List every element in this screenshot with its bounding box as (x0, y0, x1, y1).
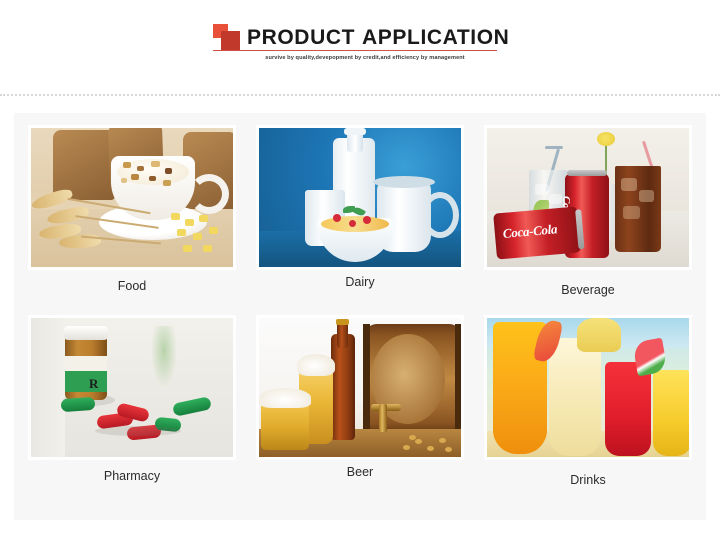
card-drinks-photo-frame (484, 315, 692, 460)
beer-scene (259, 318, 461, 457)
cola-cans-glasses-photo: Coca-Cola Coca-Cola (487, 128, 689, 267)
cup-handle-icon (189, 174, 229, 214)
tagline: survive by quality,devepopment by credit… (233, 55, 497, 61)
beer-foam (297, 354, 335, 376)
green-capsule-icon (172, 396, 212, 417)
beer-mug-barrel-photo (259, 318, 461, 457)
wheat-stem (75, 215, 158, 229)
content-panel: Food (14, 113, 706, 520)
slide-header: PRODUCTAPPLICATION survive by quality,de… (0, 0, 720, 88)
rx-symbol: R (89, 376, 98, 392)
straw-bend-icon (545, 146, 563, 149)
grain (415, 439, 422, 444)
card-drinks-label: Drinks (484, 473, 692, 488)
coca-cola-wordmark: Coca-Cola (502, 221, 558, 242)
card-food-photo-frame (28, 125, 236, 270)
bottle-cap-icon (64, 326, 108, 340)
header-divider (0, 94, 720, 96)
card-food[interactable]: Food (28, 125, 236, 294)
capsule-shadow (95, 426, 181, 436)
card-dairy-label: Dairy (256, 275, 464, 290)
two-red-squares-logo-icon (213, 23, 247, 51)
berry-icon (349, 220, 356, 227)
cereal-flake (163, 180, 171, 186)
cereal-flake (123, 162, 131, 168)
beverage-scene: Coca-Cola Coca-Cola (487, 128, 689, 267)
pasta-piece (171, 213, 180, 220)
green-capsule-icon (61, 397, 96, 412)
title-primary: PRODUCT (247, 26, 355, 49)
pasta-piece (209, 227, 218, 234)
yellow-juice-glass-icon (653, 370, 689, 456)
bottle-neck (337, 322, 348, 348)
can-top (567, 170, 607, 176)
red-juice-glass-icon (605, 362, 651, 456)
bottle-cap (344, 128, 366, 135)
logo-square-front-icon (221, 31, 240, 50)
card-dairy-photo-frame (256, 125, 464, 270)
grain-pile-icon (401, 433, 457, 455)
title-underline (213, 50, 497, 51)
beer-bottle-icon (331, 334, 355, 440)
grain (439, 438, 446, 443)
card-pharmacy[interactable]: R Pharmacy (28, 315, 236, 484)
ice-cube (623, 206, 640, 219)
cereal-flake (165, 168, 172, 174)
bottle-label (65, 356, 107, 392)
barrel-band (455, 324, 461, 434)
ice-cube (639, 190, 654, 202)
card-beer-label: Beer (256, 465, 464, 480)
jug-rim (373, 176, 435, 188)
product-application-grid: Food (14, 113, 706, 520)
pasta-piece (199, 215, 208, 222)
pineapple-slice-icon (577, 318, 621, 352)
pasta-piece (183, 245, 192, 252)
card-food-label: Food (28, 279, 236, 294)
grain (403, 445, 410, 450)
card-pharmacy-photo-frame: R (28, 315, 236, 460)
pina-colada-glass-icon (549, 338, 601, 456)
barrel-tap-icon (379, 404, 387, 432)
title-row: PRODUCTAPPLICATION (213, 22, 503, 52)
pasta-pile-icon (167, 211, 231, 263)
coca-cola-can-lying-icon: Coca-Cola (493, 206, 581, 259)
pasta-piece (177, 229, 186, 236)
title-secondary: APPLICATION (362, 26, 509, 49)
card-beverage-photo-frame: Coca-Cola Coca-Cola (484, 125, 692, 270)
pasta-piece (185, 219, 194, 226)
cereal-bowl-wheat-photo (31, 128, 233, 267)
flower-icon (597, 132, 615, 146)
card-dairy[interactable]: Dairy (256, 125, 464, 290)
pasta-piece (193, 233, 202, 240)
berry-icon (363, 216, 371, 224)
card-drinks[interactable]: Drinks (484, 315, 692, 488)
card-beverage-label: Beverage (484, 283, 692, 298)
card-beer-photo-frame (256, 315, 464, 460)
page-title: PRODUCTAPPLICATION (247, 27, 509, 48)
grain (427, 446, 434, 451)
card-pharmacy-label: Pharmacy (28, 469, 236, 484)
tropical-juice-glasses-photo (487, 318, 689, 457)
grain (445, 447, 452, 452)
food-scene (31, 128, 233, 267)
milk-bottle-jug-photo (259, 128, 461, 267)
dairy-scene (259, 128, 461, 267)
beer-foam (259, 388, 311, 408)
pasta-piece (203, 245, 212, 252)
ice-cube (621, 178, 637, 191)
pharmacy-scene: R (31, 318, 233, 457)
pill-bottle-capsules-photo: R (31, 318, 233, 457)
background-blur (31, 318, 65, 457)
wheat-bundle-icon (31, 179, 155, 265)
cereal-flake (151, 161, 160, 167)
card-beer[interactable]: Beer (256, 315, 464, 480)
berry-icon (333, 214, 341, 222)
barrel-band (363, 324, 370, 434)
cereal-flake (137, 166, 144, 171)
grain (409, 435, 416, 440)
title-block: PRODUCTAPPLICATION survive by quality,de… (213, 22, 503, 52)
card-beverage[interactable]: Coca-Cola Coca-Cola Beverage (484, 125, 692, 298)
background-blur (151, 326, 177, 388)
bottle-cap (336, 319, 349, 325)
ice-cube (535, 184, 549, 195)
drinks-scene (487, 318, 689, 457)
